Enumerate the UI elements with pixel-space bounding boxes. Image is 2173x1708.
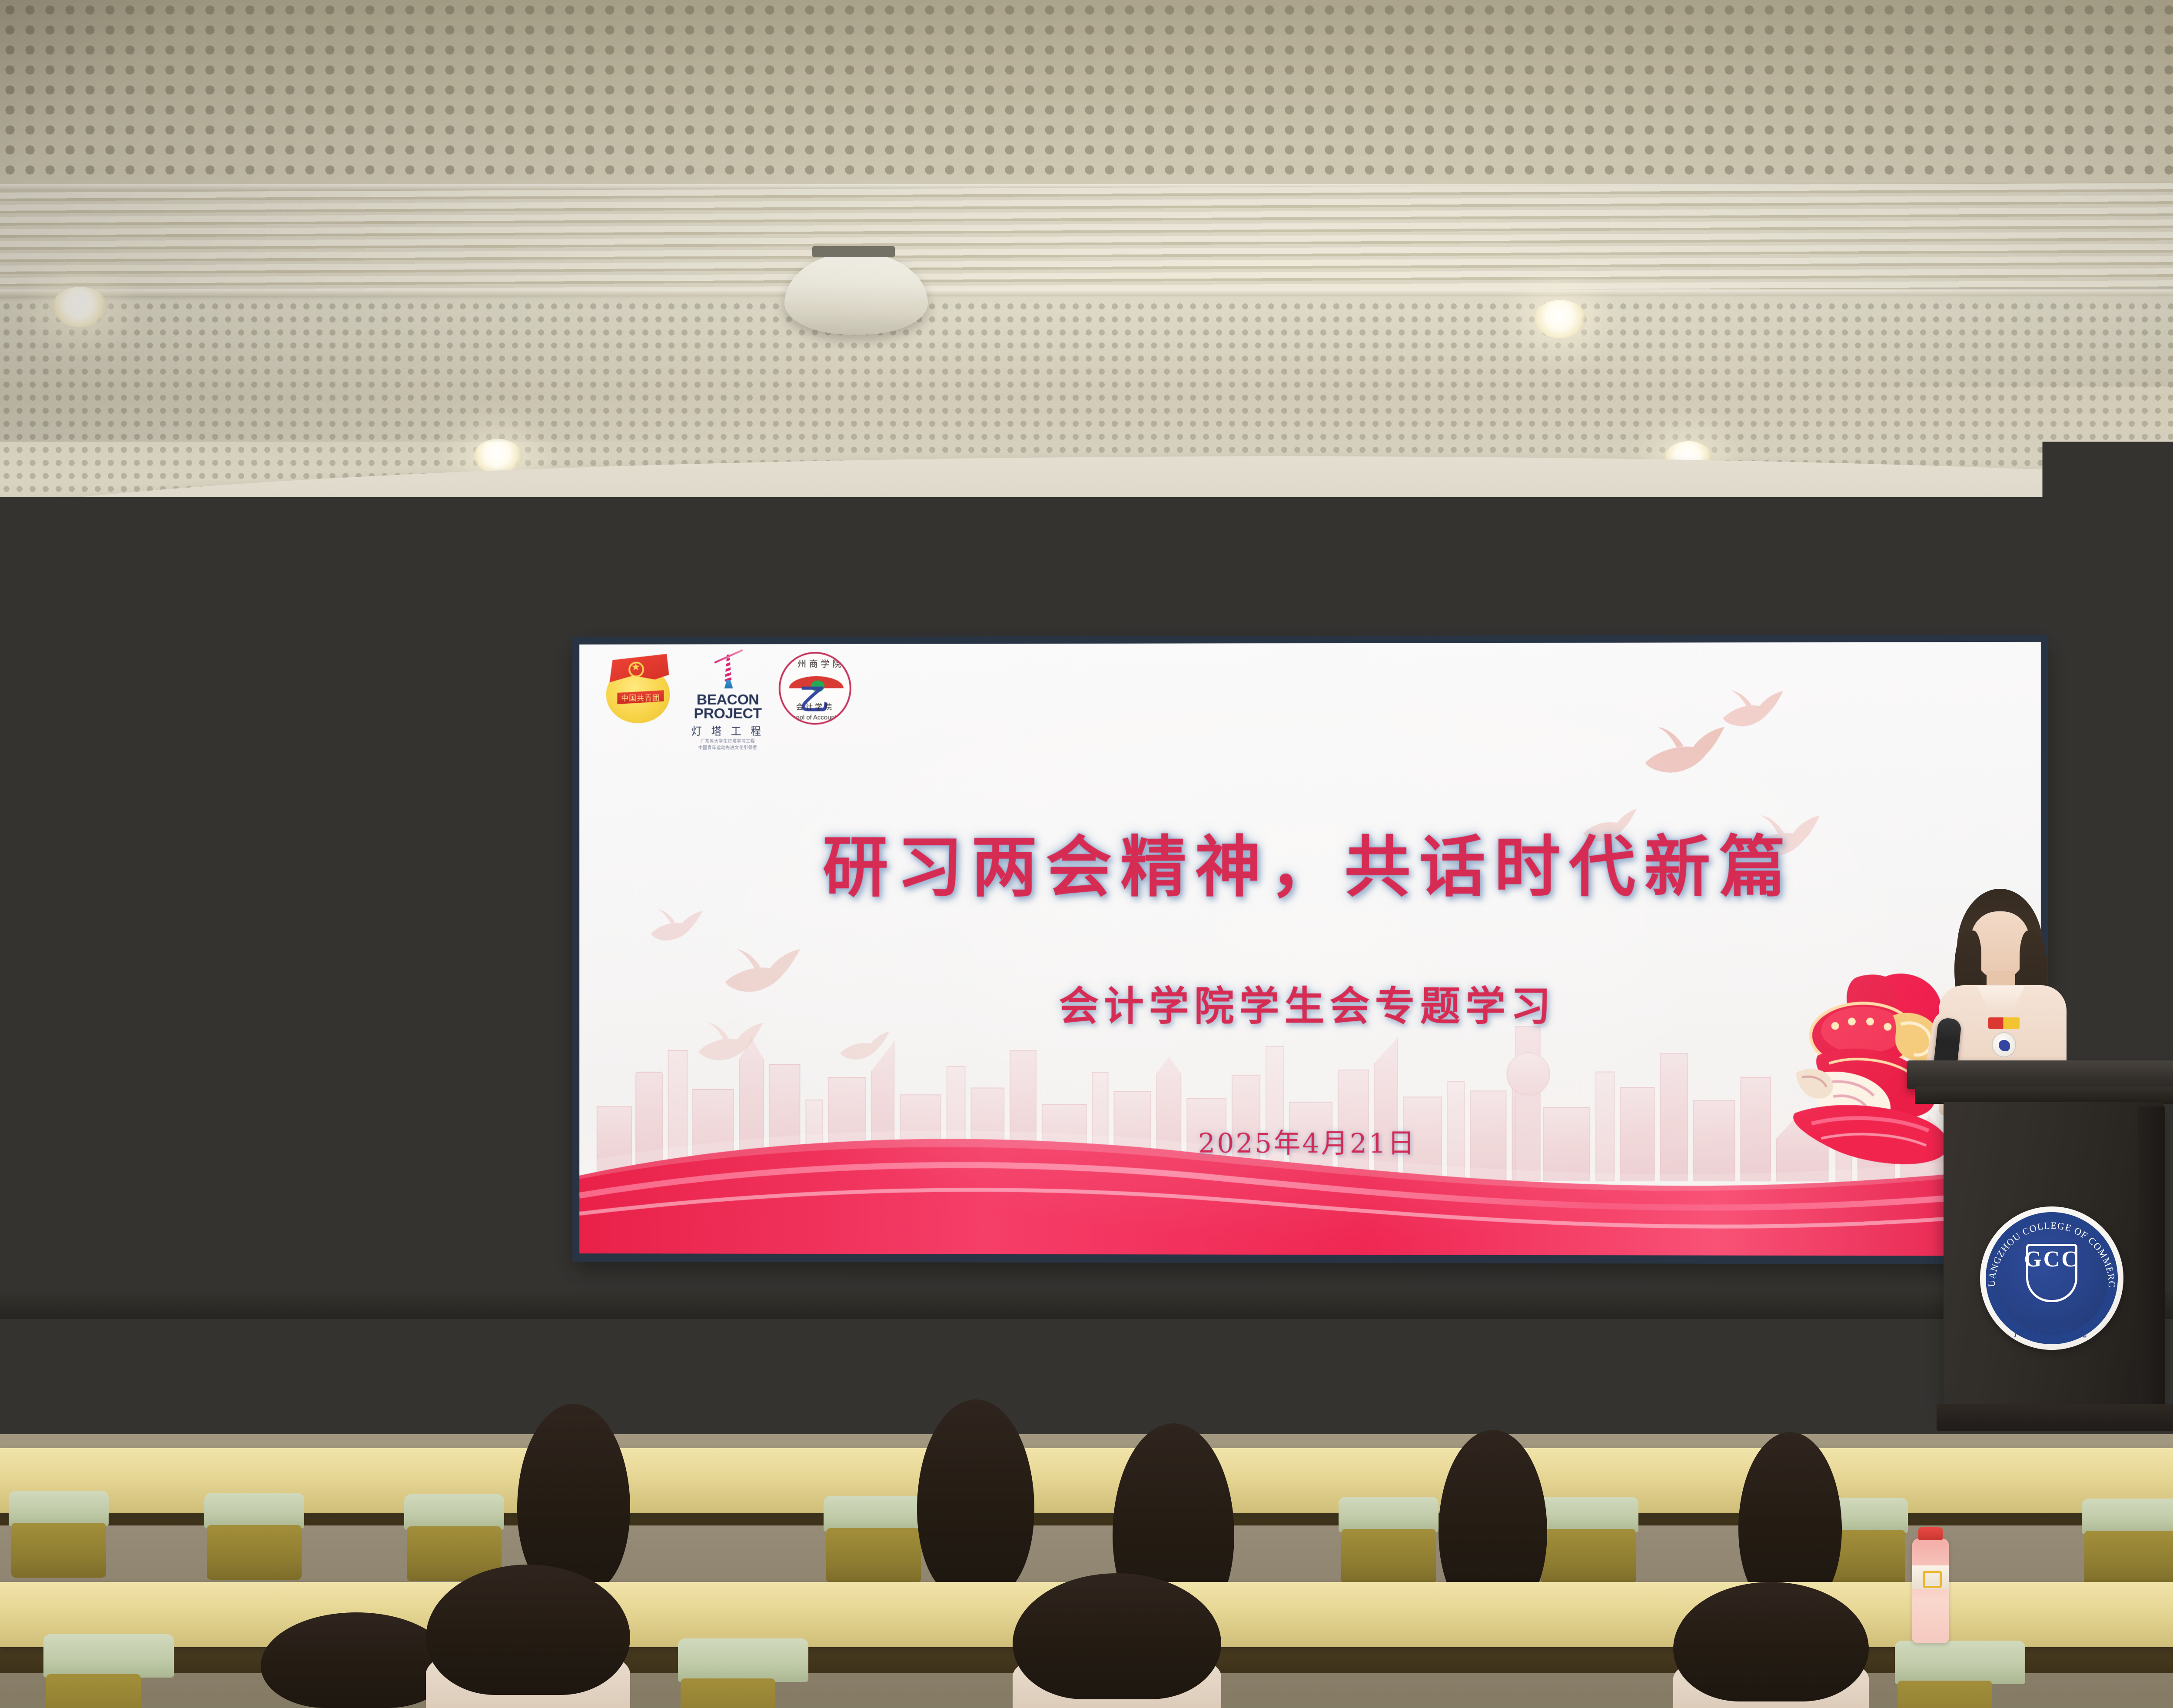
downlight-2 [1534,300,1586,338]
audience-member-front [261,1612,452,1708]
chair[interactable] [9,1491,109,1578]
beacon-cn-label: 灯 塔 工 程 [691,722,764,738]
chair[interactable] [1895,1641,2025,1708]
chair-back [678,1638,808,1682]
chair[interactable] [204,1493,304,1580]
svg-text:GUANGZHOU COLLEGE OF COMMERCE: GUANGZHOU COLLEGE OF COMMERCE [1980,1206,2117,1288]
chair[interactable] [1538,1497,1638,1584]
lecture-hall-scene: 中国共青团 广州商学院 乙 会计学院 School Of Accounting [0,0,2173,1708]
chair[interactable] [678,1638,808,1708]
chair-seat [1341,1529,1436,1584]
star-icon [628,662,644,678]
chair-back [404,1494,504,1530]
podium: GCC GUANGZHOU COLLEGE OF COMMERCE 广州商学院 [1938,1060,2169,1434]
wall-emblem-school-of-accounting: 广州商学院 乙 会计学院 School Of Accounting [70,839,261,1026]
slide-subtitle: 会计学院学生会专题学习 [579,987,2041,1027]
chair[interactable] [43,1634,174,1708]
chair-back [2082,1499,2173,1534]
dove-icon [648,908,704,945]
soa-en-label-small: School of Accounting [781,714,850,721]
beacon-sub-line1: 广东省大学生灯塔学习工程 [691,739,764,744]
wall-seam-1 [480,535,482,1299]
logo-school-of-accounting: 广州商学院 乙 会计学院 School of Accounting [779,652,851,725]
downlight-1 [52,287,108,327]
podium-top-surface [1907,1060,2173,1089]
chair[interactable] [824,1496,924,1583]
audience-hair [261,1612,452,1708]
audience-member [517,1404,630,1591]
chair-back [1895,1641,2025,1684]
audience-hair [917,1399,1034,1595]
cyl-band-label-small: 中国共青团 [621,692,660,703]
beacon-en-line1: BEACON [691,693,764,707]
wall-emblem-communist-youth-league: 中国共青团 [61,617,269,817]
audience-member-front [426,1565,630,1708]
podium-base [1937,1404,2173,1431]
beacon-sub-line2: 中国青年运动先进文化引领者 [691,746,764,751]
led-display-screen[interactable]: 中国共青团 BEACON PROJECT 灯 塔 工 程 广东省大学生灯塔学习工… [572,635,2048,1264]
chair-seat [207,1525,302,1580]
chair-seat [1541,1529,1636,1584]
chair-back [9,1491,109,1526]
chair-back [1339,1497,1439,1532]
audience-hair [1673,1582,1869,1701]
chair-seat [826,1528,921,1583]
ceiling-rail-mid [0,289,2173,296]
audience-hair [426,1565,630,1695]
audience-member-front [1013,1573,1221,1708]
chair-seat [681,1678,775,1708]
audience-hair [1738,1432,1842,1606]
audience-hair [1013,1573,1221,1699]
slide-main-title: 研习两会精神，共话时代新篇 [579,834,2041,901]
chair-back [824,1496,924,1532]
switch-rocker-1[interactable] [534,927,540,935]
bottle-cap [1918,1527,1943,1540]
slide-date: 2025年4月21日 [579,1120,2041,1161]
downlight-3 [474,439,522,474]
soa-cn-label-small: 会计学院 [781,701,850,712]
stage-riser-face [0,1289,2173,1319]
podium-top-apron [1915,1087,2173,1104]
slide-canvas: 中国共青团 BEACON PROJECT 灯 塔 工 程 广东省大学生灯塔学习工… [579,642,2041,1256]
presenter-school-badge [1992,1032,2016,1057]
dove-icon [696,1021,765,1066]
podium-seal: GCC GUANGZHOU COLLEGE OF COMMERCE 广州商学院 [1980,1206,2123,1350]
audience-member-front [1673,1582,1869,1708]
logo-beacon-project: BEACON PROJECT 灯 塔 工 程 广东省大学生灯塔学习工程 中国青年… [691,652,764,751]
podium-side-panel [2138,1107,2165,1411]
chair-seat [1897,1681,1992,1708]
ceiling-perforation-panel-upper [0,0,2173,183]
soa-top-label-small: 广州商学院 [781,657,850,670]
dove-icon [1641,725,1727,780]
audience-hair [517,1404,630,1591]
soa-en-label: School Of Accounting [74,997,256,1014]
soa-cn-label: 会计学院 [74,968,256,992]
water-bottle[interactable] [1912,1539,1949,1643]
chair-seat [2084,1531,2173,1585]
wall-light-switch[interactable] [524,917,559,945]
beacon-lighthouse-icon [714,655,742,690]
dove-icon [838,1030,890,1064]
slide-logo-row: 中国共青团 BEACON PROJECT 灯 塔 工 程 广东省大学生灯塔学习工… [600,652,851,751]
beacon-en-line2: PROJECT [691,707,764,721]
star-icon [136,648,178,690]
soa-top-label: 广州商学院 [74,853,256,881]
pearl-tower-sphere [1506,1052,1550,1096]
chair-seat [46,1674,141,1708]
logo-communist-youth-league: 中国共青团 [600,652,677,724]
ceiling-slat-band [0,181,2173,297]
bottle-label [1912,1565,1949,1589]
switch-rocker-2[interactable] [543,927,549,935]
chair-back [43,1634,174,1678]
dove-icon [1720,689,1785,731]
cyl-band-label: 中国共青团 [120,715,217,746]
chair-seat [11,1523,106,1578]
chair-back [204,1493,304,1529]
seal-cn-label: 广州商学院 [1980,1323,2123,1340]
chair[interactable] [2082,1499,2173,1585]
audience-member [917,1399,1034,1595]
chair-back [1538,1497,1638,1532]
presenter-flag-pin [1988,1017,2020,1029]
wall-seam-4 [2043,761,2173,762]
audience-member [1738,1432,1842,1606]
chair[interactable] [1339,1497,1439,1584]
